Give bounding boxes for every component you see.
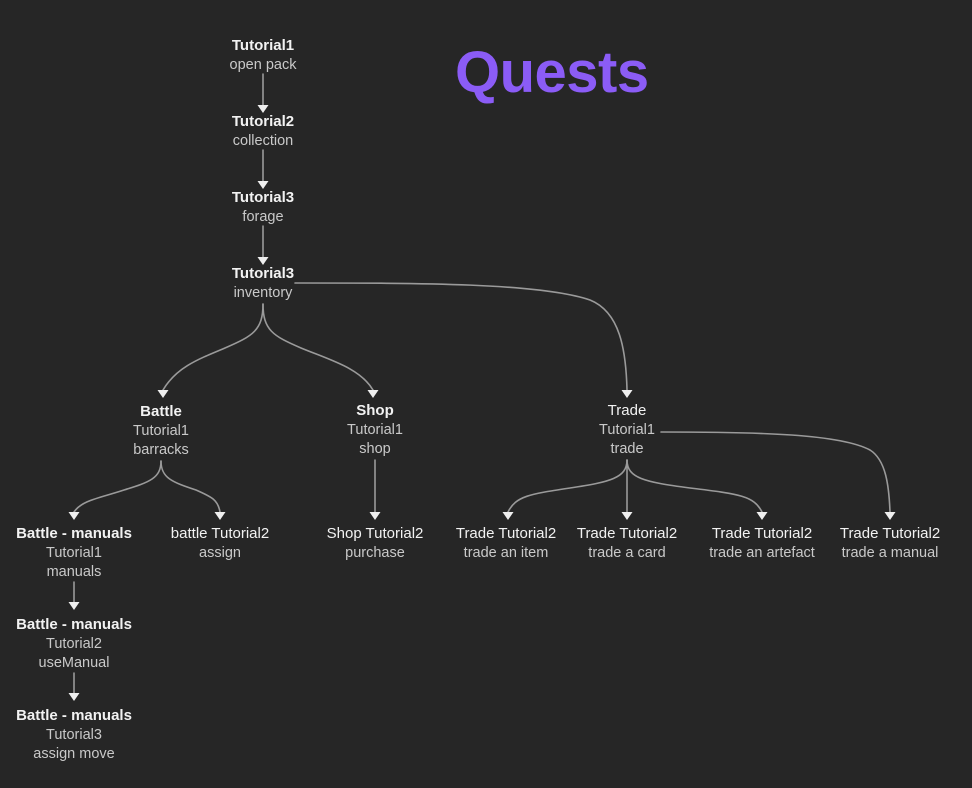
node-subtitle: Tutorial2: [16, 635, 132, 655]
graph-node-trCard[interactable]: Trade Tutorial2trade a card: [577, 524, 677, 563]
node-subtitle-2: useManual: [16, 654, 132, 674]
graph-node-bassign[interactable]: battle Tutorial2assign: [171, 524, 269, 563]
graph-node-trManual[interactable]: Trade Tutorial2trade a manual: [840, 524, 940, 563]
node-subtitle: purchase: [327, 544, 424, 564]
node-title: Battle: [133, 402, 189, 422]
graph-node-shop[interactable]: ShopTutorial1shop: [347, 401, 403, 460]
graph-node-trade[interactable]: TradeTutorial1trade: [599, 401, 655, 460]
node-title: Battle - manuals: [16, 524, 132, 544]
node-subtitle: inventory: [232, 284, 294, 304]
edge-arrowhead: [69, 693, 80, 701]
node-subtitle: trade an artefact: [702, 544, 822, 564]
node-subtitle: assign: [171, 544, 269, 564]
node-title: Tutorial2: [232, 112, 294, 132]
node-subtitle-2: manuals: [16, 563, 132, 583]
node-subtitle: Tutorial1: [347, 421, 403, 441]
edge-arrowhead: [885, 512, 896, 520]
graph-node-battle[interactable]: BattleTutorial1barracks: [133, 402, 189, 461]
node-title: battle Tutorial2: [171, 524, 269, 544]
node-subtitle: open pack: [230, 56, 297, 76]
quests-graph-canvas: Quests Tutorial1open packTutorial2collec…: [0, 0, 972, 788]
graph-node-t3inv[interactable]: Tutorial3inventory: [232, 264, 294, 303]
edge-arrowhead: [622, 512, 633, 520]
graph-node-bman1[interactable]: Battle - manualsTutorial1manuals: [16, 524, 132, 583]
edge-arrowhead: [69, 512, 80, 520]
edge-arrowhead: [622, 390, 633, 398]
edge-arrowhead: [158, 390, 169, 398]
graph-node-trItem[interactable]: Trade Tutorial2trade an item: [456, 524, 556, 563]
graph-edge: [627, 460, 762, 512]
graph-node-t1[interactable]: Tutorial1open pack: [230, 36, 297, 75]
node-title: Trade Tutorial2: [456, 524, 556, 544]
edge-arrowhead: [69, 602, 80, 610]
edge-arrowhead: [215, 512, 226, 520]
node-title: Tutorial3: [232, 264, 294, 284]
node-subtitle-2: barracks: [133, 441, 189, 461]
node-subtitle: Tutorial1: [16, 544, 132, 564]
edge-arrowhead: [503, 512, 514, 520]
node-subtitle: Tutorial1: [599, 421, 655, 441]
graph-edge: [163, 304, 263, 390]
graph-edge: [263, 304, 373, 390]
graph-node-shopt2[interactable]: Shop Tutorial2purchase: [327, 524, 424, 563]
node-title: Tutorial1: [230, 36, 297, 56]
edge-arrowhead: [757, 512, 768, 520]
node-subtitle: trade a manual: [840, 544, 940, 564]
node-title: Trade: [599, 401, 655, 421]
node-title: Battle - manuals: [16, 615, 132, 635]
node-subtitle: Tutorial3: [16, 726, 132, 746]
node-title: Trade Tutorial2: [840, 524, 940, 544]
node-subtitle: trade a card: [577, 544, 677, 564]
node-subtitle: Tutorial1: [133, 422, 189, 442]
node-subtitle-2: trade: [599, 440, 655, 460]
node-subtitle-2: shop: [347, 440, 403, 460]
graph-edge: [661, 432, 890, 512]
node-title: Trade Tutorial2: [702, 524, 822, 544]
node-subtitle-2: assign move: [16, 745, 132, 765]
node-title: Battle - manuals: [16, 706, 132, 726]
node-subtitle: forage: [232, 208, 294, 228]
graph-edge: [161, 461, 220, 512]
edge-arrowhead: [370, 512, 381, 520]
graph-edge: [295, 283, 627, 390]
page-title: Quests: [455, 44, 649, 102]
graph-edge: [508, 460, 627, 512]
node-subtitle: collection: [232, 132, 294, 152]
graph-node-t3[interactable]: Tutorial3forage: [232, 188, 294, 227]
edge-arrowhead: [368, 390, 379, 398]
node-title: Shop Tutorial2: [327, 524, 424, 544]
graph-edge: [74, 461, 161, 512]
node-title: Shop: [347, 401, 403, 421]
node-title: Trade Tutorial2: [577, 524, 677, 544]
graph-node-bman2[interactable]: Battle - manualsTutorial2useManual: [16, 615, 132, 674]
node-subtitle: trade an item: [456, 544, 556, 564]
graph-node-trArte[interactable]: Trade Tutorial2trade an artefact: [702, 524, 822, 563]
edge-layer: [0, 0, 972, 788]
graph-node-bman3[interactable]: Battle - manualsTutorial3assign move: [16, 706, 132, 765]
graph-node-t2[interactable]: Tutorial2collection: [232, 112, 294, 151]
node-title: Tutorial3: [232, 188, 294, 208]
